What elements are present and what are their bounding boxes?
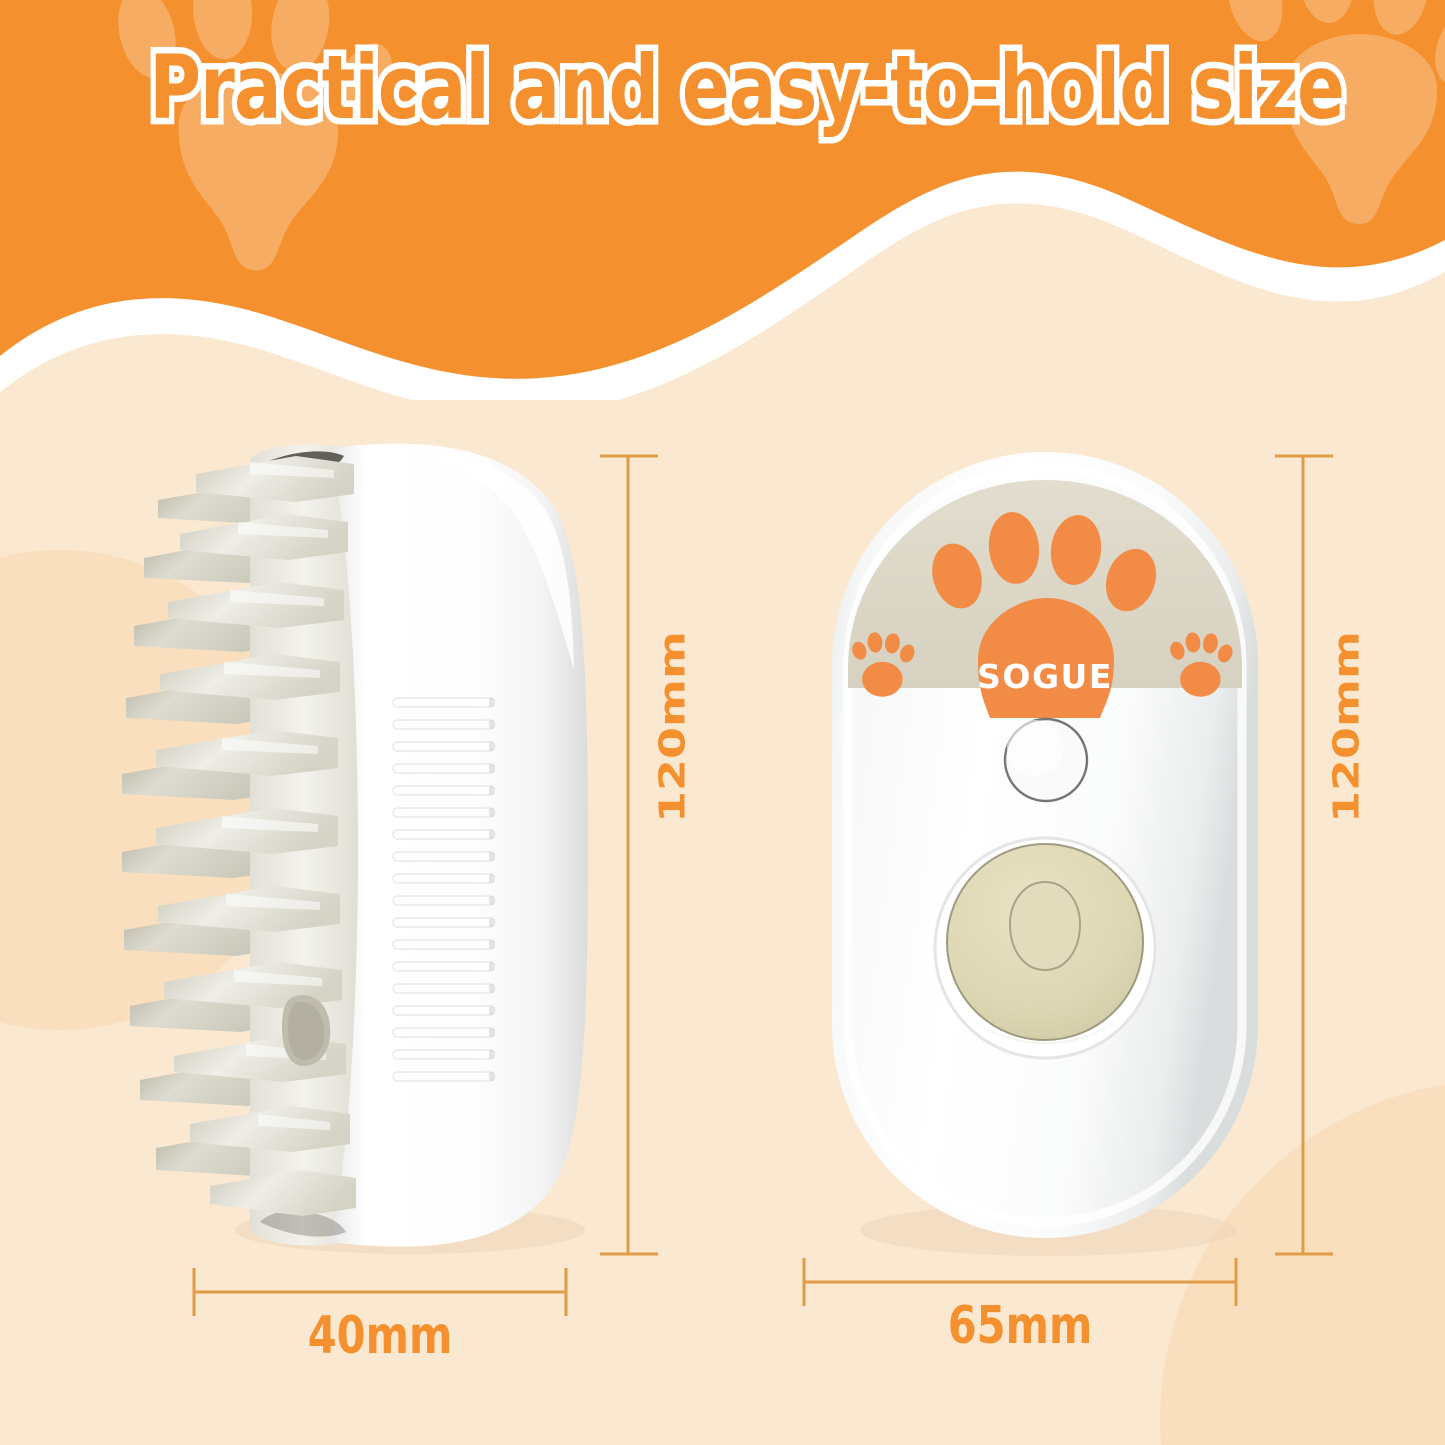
dimension-label-right-height: 120mm bbox=[1328, 703, 1364, 823]
header-banner bbox=[0, 0, 1445, 400]
dimension-label-right-width: 65mm bbox=[836, 1300, 1204, 1352]
product-image-brush-side-view bbox=[100, 430, 620, 1260]
dimension-line-left-height bbox=[600, 440, 660, 1270]
dimension-label-left-height: 120mm bbox=[654, 703, 690, 823]
product-image-device-front-view: SOGUE bbox=[810, 430, 1280, 1260]
infographic-canvas: Practical and easy-to-hold size bbox=[0, 0, 1445, 1445]
dimension-line-right-height bbox=[1275, 440, 1335, 1270]
spray-button-teardrop-icon bbox=[1010, 882, 1080, 970]
dimension-label-left-width: 40mm bbox=[220, 1310, 540, 1362]
brand-logo-text: SOGUE bbox=[977, 657, 1113, 696]
